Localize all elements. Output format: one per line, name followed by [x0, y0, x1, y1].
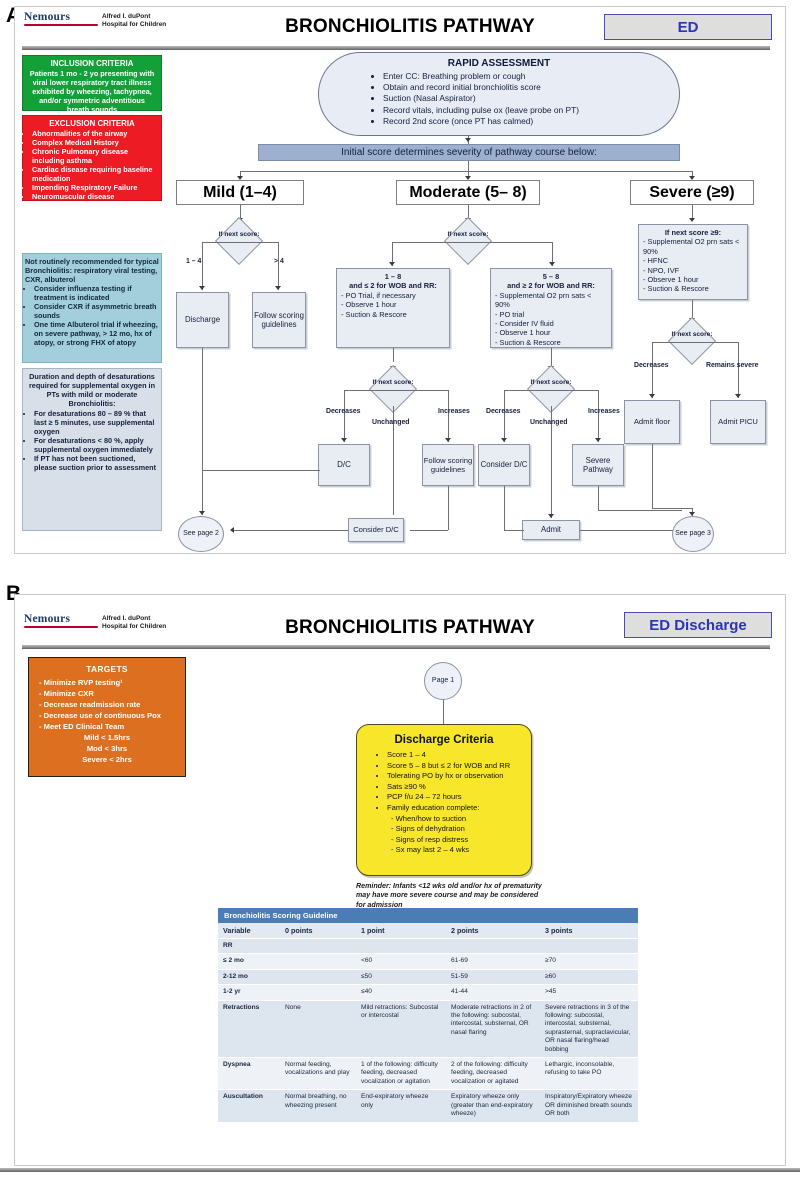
discharge-heading: Discharge Criteria [357, 725, 531, 750]
admit-floor-box: Admit floor [624, 400, 680, 444]
not-routine-list: Consider influenza testing if treatment … [25, 284, 159, 347]
edge [240, 171, 692, 172]
edge [448, 486, 449, 530]
mild-follow-scoring-box: Follow scoring guidelines [252, 292, 306, 348]
list-item: PCP f/u 24 – 72 hours [387, 792, 531, 803]
inclusion-heading: INCLUSION CRITERIA [23, 56, 161, 69]
discharge-criteria-box: Discharge Criteria Score 1 – 4 Score 5 –… [356, 724, 532, 876]
edge [278, 242, 279, 290]
cell: Dyspnea [218, 1058, 280, 1090]
list-item: Abnormalities of the airway [32, 129, 161, 138]
arrow-icon [199, 286, 205, 290]
rapid-assessment-heading: RAPID ASSESSMENT [319, 53, 679, 69]
moderate-right-sub-label: If next score: [528, 379, 574, 387]
cell: ≤40 [356, 985, 446, 1000]
cell: Inspiratory/Expiratory wheeze OR diminis… [540, 1090, 638, 1122]
cell [280, 969, 356, 984]
list-item: Consider CXR if asymmetric breath sounds [34, 302, 159, 320]
cell: Auscultation [218, 1090, 280, 1122]
edge [202, 242, 278, 243]
cell: <60 [356, 954, 446, 969]
moderate-right-sub: and ≥ 2 for WOB and RR: [495, 281, 607, 290]
edge [504, 390, 505, 442]
page-title-a: BRONCHIOLITIS PATHWAY [220, 16, 600, 38]
cell: 51-59 [446, 969, 540, 984]
badge-ed-discharge: ED Discharge [624, 612, 772, 638]
reminder-note: Reminder: Infants <12 wks old and/or hx … [356, 882, 546, 910]
list-item: - Meet ED Clinical Team [29, 721, 185, 732]
list-item: Record vitals, including pulse ox (leave… [383, 105, 679, 116]
cell [540, 939, 638, 954]
cell [446, 939, 540, 954]
cell: RR [218, 939, 280, 954]
desat-list: For desaturations 80 – 89 % that last ≥ … [25, 409, 159, 472]
moderate-left-dc-box: D/C [318, 444, 370, 486]
column-header: 2 points [446, 923, 540, 939]
edge [504, 530, 524, 531]
inclusion-body: Patients 1 mo - 2 yo presenting with vir… [27, 69, 157, 114]
edge [551, 348, 552, 366]
see-page-2-circle: See page 2 [178, 516, 224, 552]
severe-header: Severe (≥9) [630, 180, 754, 205]
moderate-right-box: 5 – 8 and ≥ 2 for WOB and RR: - Suppleme… [490, 268, 612, 348]
list-item: Tolerating PO by hx or observation [387, 771, 531, 782]
cell: Moderate retractions in 2 of the followi… [446, 1000, 540, 1057]
exclusion-list: Abnormalities of the airway Complex Medi… [23, 129, 161, 201]
cell: 2 of the following: difficulty feeding, … [446, 1058, 540, 1090]
discharge-list: Score 1 – 4 Score 5 – 8 but ≤ 2 for WOB … [357, 750, 531, 856]
list-item: - Sx may last 2 – 4 wks [387, 845, 531, 856]
cell: ≤50 [356, 969, 446, 984]
list-item: - Observe 1 hour [495, 328, 607, 337]
page-title-b: BRONCHIOLITIS PATHWAY [220, 617, 600, 639]
not-routine-lead: Not routinely recommended for typical Br… [25, 257, 159, 284]
target-time-mild: Mild < 1.5hrs [29, 732, 185, 743]
moderate-left-label-decreases: Decreases [326, 408, 360, 415]
mild-branch-left-label: 1 – 4 [186, 258, 201, 265]
cell: Severe retractions in 3 of the following… [540, 1000, 638, 1057]
arrow-icon [649, 394, 655, 398]
list-item: For desaturations 80 – 89 % that last ≥ … [34, 409, 159, 436]
cell: 41-44 [446, 985, 540, 1000]
moderate-left-label-unchanged: Unchanged [372, 419, 410, 426]
moderate-left-head: 1 – 8 [341, 272, 445, 281]
edge [443, 700, 444, 724]
column-header: 0 points [280, 923, 356, 939]
arrow-icon [389, 262, 395, 266]
list-item: Family education complete: [387, 803, 531, 814]
inclusion-criteria-box: INCLUSION CRITERIA Patients 1 mo - 2 yo … [22, 55, 162, 111]
table-row: Auscultation Normal breathing, no wheezi… [218, 1090, 638, 1122]
table-row: Retractions None Mild retractions: Subco… [218, 1000, 638, 1057]
edge [652, 508, 692, 509]
targets-heading: TARGETS [29, 658, 185, 677]
list-item: Impending Respiratory Failure [32, 183, 161, 192]
cell: Normal breathing, no wheezing present [280, 1090, 356, 1122]
moderate-right-label-unchanged: Unchanged [530, 419, 568, 426]
severe-actions-box: If next score ≥9: - Supplemental O2 prn … [638, 224, 748, 300]
cell: ≥60 [540, 969, 638, 984]
cell [356, 939, 446, 954]
list-item: - PO trial [495, 310, 607, 319]
consider-dc-label: Consider D/C [353, 525, 399, 534]
list-item: - HFNC [643, 256, 743, 265]
moderate-decision-label: If next score: [445, 231, 491, 239]
edge [344, 390, 345, 442]
cell: ≥70 [540, 954, 638, 969]
list-item: - Consider IV fluid [495, 319, 607, 328]
list-item: Sats ≥90 % [387, 782, 531, 793]
target-time-severe: Severe < 2hrs [29, 754, 185, 765]
edge [202, 242, 203, 290]
moderate-left-sub: and ≤ 2 for WOB and RR: [341, 281, 445, 290]
cell: 61-69 [446, 954, 540, 969]
mild-decision-label: If next score: [216, 231, 262, 239]
list-item: Enter CC: Breathing problem or cough [383, 71, 679, 82]
arrow-icon [465, 138, 471, 142]
list-item: Consider influenza testing if treatment … [34, 284, 159, 302]
column-header: 3 points [540, 923, 638, 939]
consider-dc-box: Consider D/C [348, 518, 404, 542]
severe-decision-label: If next score: [669, 331, 715, 339]
moderate-right-label-increases: Increases [588, 408, 620, 415]
list-item: - PO Trial, if necessary [341, 291, 445, 300]
cell: >45 [540, 985, 638, 1000]
severe-box-head: If next score ≥9: [643, 228, 743, 237]
list-item: - Observe 1 hour [643, 275, 743, 284]
list-item: - Decrease readmission rate [29, 699, 185, 710]
edge [410, 530, 448, 531]
list-item: - Signs of dehydration [387, 824, 531, 835]
mild-discharge-box: Discharge [176, 292, 229, 348]
edge [652, 342, 653, 398]
edge [598, 486, 599, 510]
list-item: For desaturations < 80 %, apply suppleme… [34, 436, 159, 454]
table-row: RR [218, 939, 638, 954]
moderate-left-label-increases: Increases [438, 408, 470, 415]
edge [448, 390, 449, 442]
desaturation-box: Duration and depth of desaturations requ… [22, 368, 162, 531]
arrow-icon [735, 394, 741, 398]
list-item: Record 2nd score (once PT has calmed) [383, 116, 679, 127]
initial-score-banner: Initial score determines severity of pat… [258, 144, 680, 161]
bottom-divider [0, 1168, 800, 1172]
cell: End-expiratory wheeze only [356, 1090, 446, 1122]
nemours-logo: Nemours Alfred I. duPont Hospital for Ch… [24, 12, 154, 26]
list-item: One time Albuterol trial if wheezing, on… [34, 320, 159, 347]
list-item: Score 1 – 4 [387, 750, 531, 761]
edge [202, 470, 320, 471]
moderate-header: Moderate (5– 8) [396, 180, 540, 205]
cell: Normal feeding, vocalizations and play [280, 1058, 356, 1090]
edge [344, 390, 448, 391]
cell: None [280, 1000, 356, 1057]
not-routine-box: Not routinely recommended for typical Br… [22, 253, 162, 363]
cell: Lethargic, inconsolable, refusing to tak… [540, 1058, 638, 1090]
list-item: Cardiac disease requiring baseline medic… [32, 165, 161, 183]
cell [280, 954, 356, 969]
cell: Retractions [218, 1000, 280, 1057]
table-header-row: Variable 0 points 1 point 2 points 3 poi… [218, 923, 638, 939]
mild-header: Mild (1–4) [176, 180, 304, 205]
moderate-left-box: 1 – 8 and ≤ 2 for WOB and RR: - PO Trial… [336, 268, 450, 348]
edge [504, 486, 505, 530]
admit-picu-box: Admit PICU [710, 400, 766, 444]
arrow-icon [549, 262, 555, 266]
edge [232, 530, 348, 531]
table-row: 2-12 mo ≤50 51-59 ≥60 [218, 969, 638, 984]
logo-underline [24, 24, 98, 26]
severe-label-decreases: Decreases [634, 362, 668, 369]
arrow-icon [230, 527, 234, 533]
edge [598, 390, 599, 442]
header-divider-a [22, 46, 770, 50]
list-item: - Supplemental O2 prn sats < 90% [495, 291, 607, 310]
edge [652, 444, 653, 508]
list-item: If PT has not been suctioned, please suc… [34, 454, 159, 472]
list-item: - Suction & Rescore [643, 284, 743, 293]
list-item: - Minimize RVP testing¹ [29, 677, 185, 688]
cell: 1-2 yr [218, 985, 280, 1000]
rapid-assessment-list: Enter CC: Breathing problem or cough Obt… [319, 71, 679, 127]
admit-box: Admit [522, 520, 580, 540]
list-item: Complex Medical History [32, 138, 161, 147]
edge [392, 242, 552, 243]
arrow-icon [595, 438, 601, 442]
list-item: - NPO, IVF [643, 266, 743, 275]
arrow-icon [689, 218, 695, 222]
edge [504, 390, 598, 391]
exclusion-criteria-box: EXCLUSION CRITERIA Abnormalities of the … [22, 115, 162, 201]
edge [393, 348, 394, 362]
arrow-icon [341, 438, 347, 442]
targets-box: TARGETS - Minimize RVP testing¹ - Minimi… [28, 657, 186, 777]
arrow-icon [548, 514, 554, 518]
list-item: - Suction & Rescore [495, 338, 607, 347]
list-item: Score 5 – 8 but ≤ 2 for WOB and RR [387, 761, 531, 772]
moderate-right-consider-dc-box: Consider D/C [478, 444, 530, 486]
logo-underline [24, 626, 98, 628]
list-item: - Signs of resp distress [387, 835, 531, 846]
see-page-3-circle: See page 3 [672, 516, 714, 552]
bronchiolitis-scoring-table: Bronchiolitis Scoring Guideline Variable… [218, 908, 638, 1123]
arrow-icon [501, 438, 507, 442]
list-item: Chronic Pulmonary disease including asth… [32, 147, 161, 165]
list-item: Neuromuscular disease [32, 192, 161, 201]
rapid-assessment-box: RAPID ASSESSMENT Enter CC: Breathing pro… [318, 52, 680, 136]
cell: ≤ 2 mo [218, 954, 280, 969]
badge-ed: ED [604, 14, 772, 40]
edge [652, 342, 738, 343]
nemours-logo-b: Nemours Alfred I. duPont Hospital for Ch… [24, 614, 154, 628]
edge [202, 348, 203, 515]
arrow-icon [445, 438, 451, 442]
desat-heading: Duration and depth of desaturations requ… [28, 372, 156, 408]
severe-label-remains: Remains severe [706, 362, 758, 369]
cell: Expiratory wheeze only (greater than end… [446, 1090, 540, 1122]
header-divider-b [22, 645, 770, 649]
list-item: Suction (Nasal Aspirator) [383, 93, 679, 104]
arrow-icon [199, 511, 205, 515]
mild-branch-right-label: > 4 [274, 258, 284, 265]
table-caption: Bronchiolitis Scoring Guideline [218, 908, 638, 923]
column-header: Variable [218, 923, 280, 939]
cell: Mild retractions: Subcostal or intercost… [356, 1000, 446, 1057]
cell: 1 of the following: difficulty feeding, … [356, 1058, 446, 1090]
table-row: ≤ 2 mo <60 61-69 ≥70 [218, 954, 638, 969]
list-item: - Minimize CXR [29, 688, 185, 699]
cell [280, 939, 356, 954]
edge [468, 161, 469, 171]
column-header: 1 point [356, 923, 446, 939]
exclusion-heading: EXCLUSION CRITERIA [23, 116, 161, 129]
moderate-left-follow-box: Follow scoring guidelines [422, 444, 474, 486]
logo-subtitle: Alfred I. duPont Hospital for Children [102, 615, 172, 630]
list-item: - Suction & Rescore [341, 310, 445, 319]
arrow-icon [275, 286, 281, 290]
list-item: - Observe 1 hour [341, 300, 445, 309]
table-row: Dyspnea Normal feeding, vocalizations an… [218, 1058, 638, 1090]
target-time-mod: Mod < 3hrs [29, 743, 185, 754]
severe-pathway-box: Severe Pathway [572, 444, 624, 486]
list-item: - Decrease use of continuous Pox [29, 710, 185, 721]
moderate-right-head: 5 – 8 [495, 272, 607, 281]
page-1-circle: Page 1 [424, 662, 462, 700]
moderate-right-label-decreases: Decreases [486, 408, 520, 415]
list-item: Obtain and record initial bronchiolitis … [383, 82, 679, 93]
list-item: - When/how to suction [387, 814, 531, 825]
logo-subtitle: Alfred I. duPont Hospital for Children [102, 13, 172, 28]
cell: 2-12 mo [218, 969, 280, 984]
edge [738, 342, 739, 398]
edge [598, 510, 682, 511]
moderate-left-sub-label: If next score: [370, 379, 416, 387]
list-item: - Supplemental O2 prn sats < 90% [643, 237, 743, 256]
cell [280, 985, 356, 1000]
table-row: 1-2 yr ≤40 41-44 >45 [218, 985, 638, 1000]
